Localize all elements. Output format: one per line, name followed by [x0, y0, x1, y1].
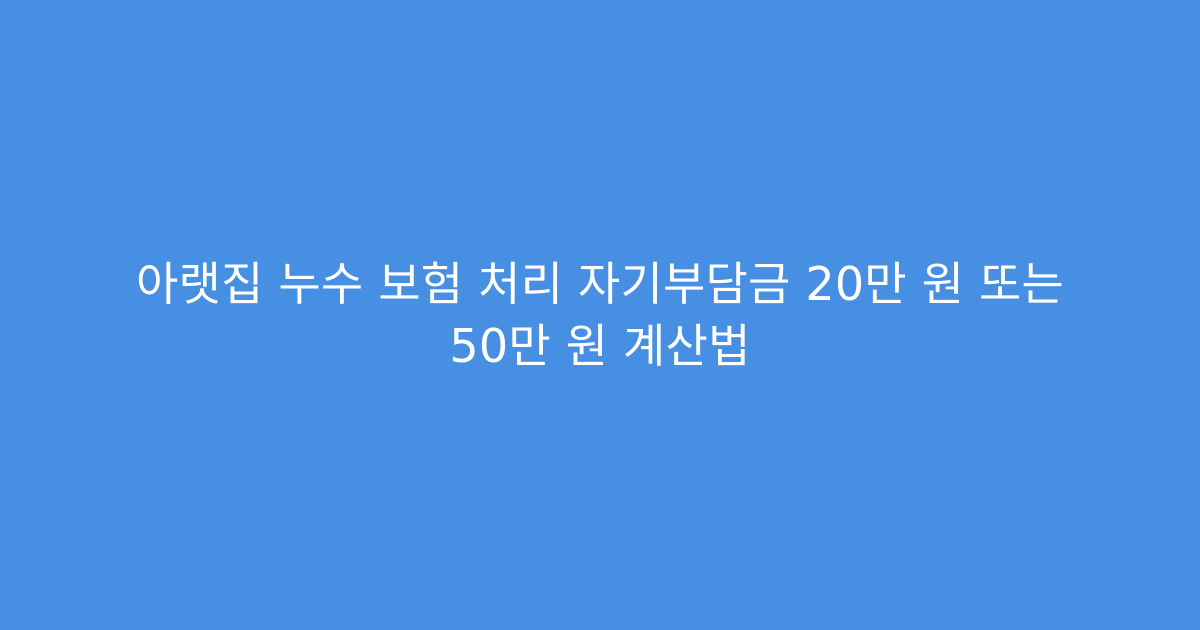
card-title: 아랫집 누수 보험 처리 자기부담금 20만 원 또는 50만 원 계산법 — [100, 253, 1100, 377]
title-block: 아랫집 누수 보험 처리 자기부담금 20만 원 또는 50만 원 계산법 — [80, 253, 1120, 377]
social-share-card: 아랫집 누수 보험 처리 자기부담금 20만 원 또는 50만 원 계산법 — [0, 0, 1200, 630]
